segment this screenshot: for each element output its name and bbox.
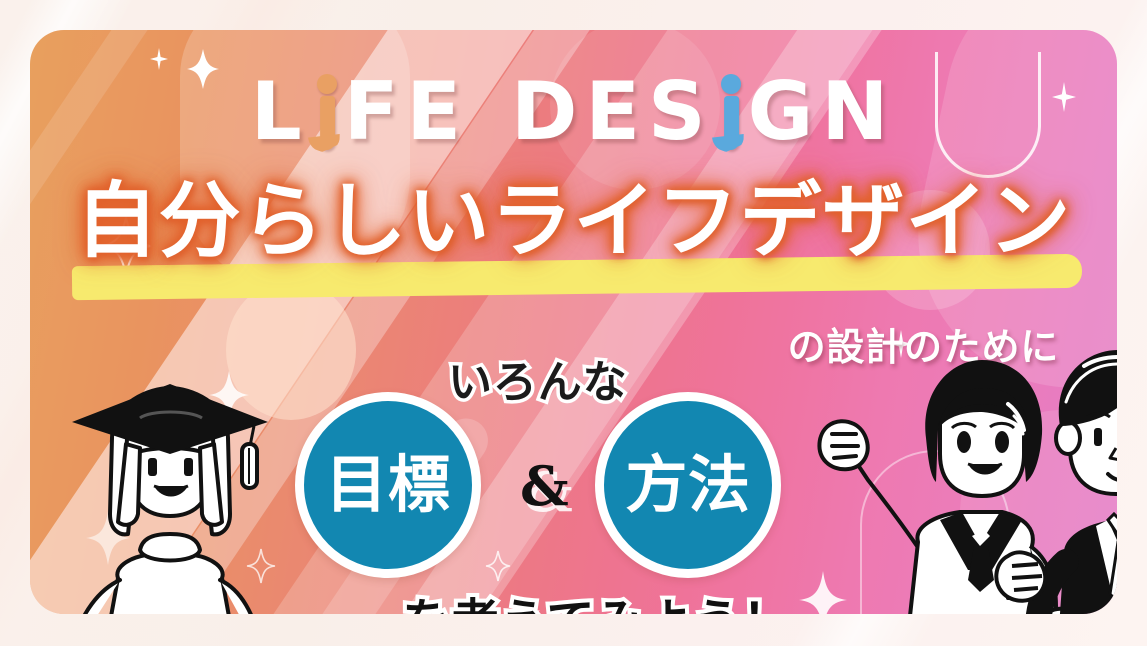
sparkle-icon [150, 48, 168, 70]
circle-goal[interactable]: 目標 [295, 392, 481, 578]
title-letters-gn: GN [748, 72, 897, 152]
circle-method[interactable]: 方法 [595, 392, 781, 578]
illustration-cheering-students [812, 330, 1117, 614]
inner-panel: L FEDES GN 自分らしいライフデザイン の設計のために いろんな を考え… [30, 30, 1117, 614]
title-letters-fe: FE [344, 72, 469, 152]
illustration-graduate-girl [54, 382, 284, 614]
tail-text: を考えてみよう！ [402, 582, 791, 614]
circle-goal-label: 目標 [325, 454, 450, 516]
person-i-orange-icon [310, 72, 344, 152]
title-life-design: L FEDES GN [30, 72, 1117, 152]
person-i-blue-icon [714, 72, 748, 152]
life-design-banner: L FEDES GN 自分らしいライフデザイン の設計のために いろんな を考え… [0, 0, 1147, 646]
title-letters-des: DES [511, 72, 714, 152]
headline-container: 自分らしいライフデザイン [30, 178, 1117, 267]
title-letter-l: L [251, 72, 310, 152]
lead-text: いろんな [448, 346, 628, 410]
circle-method-label: 方法 [625, 454, 750, 516]
sparkle-icon [485, 550, 511, 582]
headline-japanese: 自分らしいライフデザイン [76, 178, 1072, 267]
ampersand-symbol: & [520, 454, 569, 518]
